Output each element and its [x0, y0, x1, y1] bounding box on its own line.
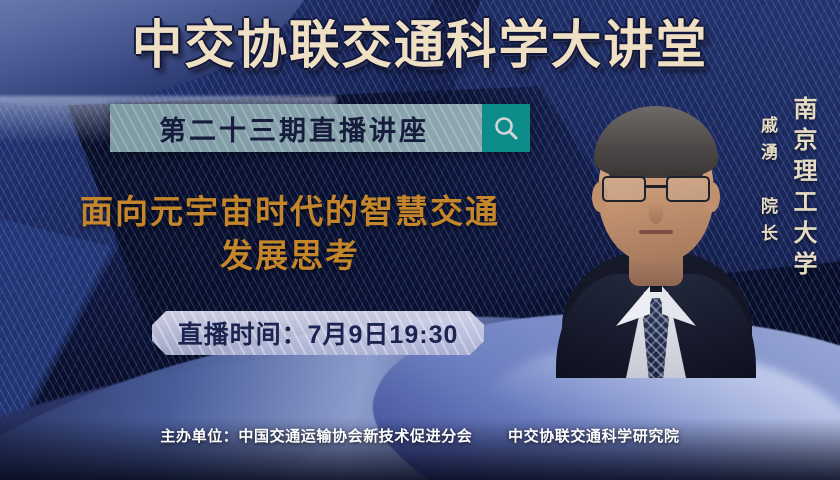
broadcast-time-badge: 直播时间：7月9日19:30: [152, 311, 484, 355]
search-icon: [492, 114, 520, 142]
eyeglasses-icon: [602, 176, 710, 202]
lens-left: [602, 176, 646, 202]
speaker-photo: [556, 78, 756, 378]
live-lecture-poster: 中交协联交通科学大讲堂 第二十三期直播讲座 面向元宇宙时代的智慧交通 发展思考 …: [0, 0, 840, 480]
speaker-name-title: 戚湧 院长: [755, 116, 780, 251]
nose: [649, 202, 663, 224]
lecture-title: 面向元宇宙时代的智慧交通 发展思考: [40, 190, 540, 277]
session-label: 第二十三期直播讲座: [110, 109, 482, 148]
mouth: [639, 230, 673, 234]
poster-content: 中交协联交通科学大讲堂 第二十三期直播讲座 面向元宇宙时代的智慧交通 发展思考 …: [0, 0, 840, 480]
footer-host-suffix: 中交协联交通科学研究院: [508, 428, 680, 445]
footer-organizers: 主办单位：中国交通运输协会新技术促进分会 中交协联交通科学研究院: [0, 425, 840, 446]
lecture-title-line-1: 面向元宇宙时代的智慧交通: [40, 190, 540, 234]
lens-right: [666, 176, 710, 202]
footer-host-prefix: 主办单位：中国交通运输协会新技术促进分会: [160, 428, 472, 445]
page-title: 中交协联交通科学大讲堂: [129, 20, 711, 72]
speaker-organization: 南京理工大学: [785, 96, 820, 282]
lecture-title-line-2: 发展思考: [40, 234, 540, 278]
hair: [594, 106, 718, 178]
glasses-bridge: [646, 185, 666, 188]
broadcast-time-text: 直播时间：7月9日19:30: [178, 315, 459, 351]
session-banner: 第二十三期直播讲座: [110, 104, 530, 152]
search-button[interactable]: [482, 104, 530, 152]
